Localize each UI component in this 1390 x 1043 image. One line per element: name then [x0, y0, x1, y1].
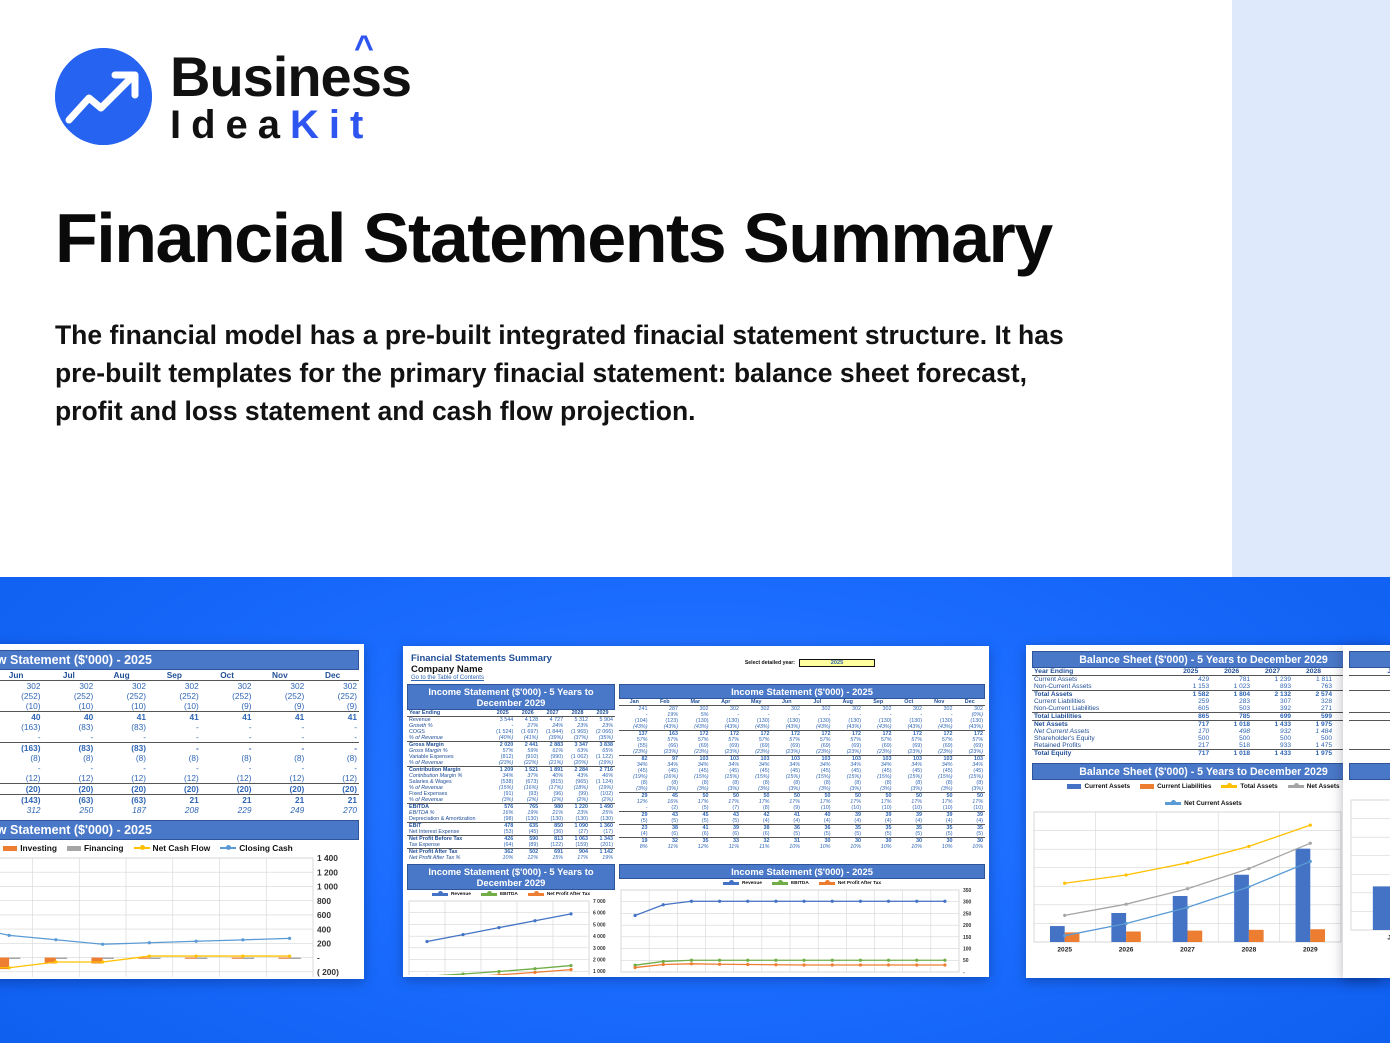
- table-cell: (252): [0, 691, 43, 701]
- income-monthly-table-title: Income Statement ($'000) - 2025: [619, 684, 985, 699]
- table-cell: 763: [1293, 683, 1334, 691]
- table-cell: 21: [148, 795, 201, 806]
- balance-sheet-table: Year Ending20252026202720282029Current A…: [1032, 668, 1375, 757]
- table-cell: 599: [1293, 713, 1334, 721]
- table-row: Total Assets1 5821 8042 1322 5743 146: [1032, 691, 1375, 699]
- table-row: Tax Expense(64)(89)(122)(159)(201): [407, 842, 615, 849]
- table-cell: (63): [43, 795, 96, 806]
- page-title: Financial Statements Summary: [55, 198, 1175, 278]
- table-cell: (20): [201, 784, 254, 795]
- table-cell: -: [0, 732, 43, 743]
- table-cell: 302: [148, 681, 201, 692]
- table-cell: 302: [43, 681, 96, 692]
- table-cell: 503: [1211, 705, 1252, 713]
- table-row: 302302302302302302302302: [0, 681, 359, 692]
- table-cell: (20): [43, 784, 96, 795]
- table-cell: 12: [1349, 742, 1390, 750]
- table-cell: 328: [1293, 698, 1334, 705]
- table-cell: 170: [1170, 728, 1211, 735]
- income-header-company: Company Name: [405, 664, 552, 675]
- brand-circumflex-icon: ^: [354, 31, 373, 65]
- svg-text:5 000: 5 000: [593, 922, 606, 928]
- table-cell: -: [201, 732, 254, 743]
- table-cell: 10%: [490, 855, 515, 861]
- table-cell: 1 811: [1293, 676, 1334, 684]
- table-cell: (10): [148, 701, 201, 712]
- table-cell: 932: [1252, 728, 1293, 735]
- table-cell: (8): [43, 753, 96, 763]
- income-monthly-chart-title: Income Statement ($'000) - 2025: [619, 864, 985, 879]
- table-cell: (12): [148, 773, 201, 784]
- svg-text:3 000: 3 000: [593, 946, 606, 952]
- sliver-table: Jan1 1741241 297936927865121 08150012512: [1349, 668, 1390, 757]
- table-row: 512: [1349, 750, 1390, 758]
- table-cell: 1 975: [1293, 750, 1334, 758]
- table-cell: 302: [95, 681, 148, 692]
- table-cell: 270: [306, 805, 359, 815]
- table-row: Shareholder's Equity500500500500500: [1032, 735, 1375, 742]
- table-row: 124: [1349, 683, 1390, 691]
- svg-text:800: 800: [317, 896, 331, 906]
- table-cell: 259: [1170, 698, 1211, 705]
- table-of-contents-link[interactable]: Go to the Table of Contents: [405, 675, 552, 681]
- header-cell: 2025: [1170, 668, 1211, 676]
- table-row: (249)(252)(252)(252)(252)(252)(252)(252): [0, 691, 359, 701]
- svg-text:1 200: 1 200: [317, 867, 338, 877]
- screenshot-balance-sheet-monthly[interactable]: Jan1 1741241 297936927865121 08150012512…: [1343, 645, 1390, 978]
- table-row: Depreciation & Amortization(98)(130)(130…: [407, 816, 615, 823]
- svg-text:50: 50: [963, 958, 969, 964]
- brand-name-secondary: Idea Kit: [170, 105, 411, 145]
- cash-flow-chart-legend: InvestingFinancingNet Cash FlowClosing C…: [0, 843, 359, 853]
- table-cell: 283: [1211, 698, 1252, 705]
- table-cell: 781: [1211, 676, 1252, 684]
- table-cell: 10%: [833, 844, 864, 850]
- table-cell: 429: [1170, 676, 1211, 684]
- table-cell: -: [254, 722, 307, 732]
- legend-label: Closing Cash: [239, 843, 293, 853]
- table-row: Net Profit After Tax %10%12%15%17%19%: [407, 855, 615, 861]
- table-cell: (20): [0, 784, 43, 795]
- legend-label: Net Assets: [1307, 783, 1340, 790]
- svg-text:2026: 2026: [1119, 947, 1134, 954]
- table-row: Retained Profits2175189331 4752 160: [1032, 742, 1375, 750]
- table-cell: 41: [95, 712, 148, 723]
- header-cell: Jan: [1349, 668, 1390, 676]
- table-row: 692: [1349, 705, 1390, 713]
- svg-text:100: 100: [963, 946, 972, 952]
- table-cell: 21: [306, 795, 359, 806]
- row-label: Current Assets: [1032, 676, 1170, 684]
- table-cell: 11%: [711, 844, 742, 850]
- table-cell: 392: [1252, 705, 1293, 713]
- table-cell: (252): [254, 691, 307, 701]
- header-cell: 2027: [1252, 668, 1293, 676]
- table-cell: 312: [0, 805, 43, 815]
- table-row: (10)(10)(10)(10)(10)(9)(9)(9): [0, 701, 359, 712]
- svg-text:1 400: 1 400: [317, 854, 338, 863]
- table-cell: (12): [95, 773, 148, 784]
- svg-text:7 000: 7 000: [593, 899, 606, 905]
- table-cell: 21: [254, 795, 307, 806]
- table-cell: (252): [43, 691, 96, 701]
- table-cell: 302: [201, 681, 254, 692]
- table-cell: -: [43, 763, 96, 773]
- sliver-table-title: [1349, 651, 1390, 668]
- table-row: 12: [1349, 742, 1390, 750]
- table-cell: 933: [1252, 742, 1293, 750]
- table-cell: 785: [1211, 713, 1252, 721]
- svg-text:Sep: Sep: [856, 976, 865, 977]
- row-label: Retained Profits: [1032, 742, 1170, 750]
- table-header-row: Jan: [1349, 668, 1390, 676]
- income-annual-chart: 7 0006 0005 0004 0003 0002 0001 000-2025…: [407, 897, 615, 977]
- header-cell: Dec: [306, 670, 359, 681]
- table-cell: 500: [1293, 735, 1334, 742]
- legend-item: Current Assets: [1067, 783, 1130, 790]
- table-cell: (12): [254, 773, 307, 784]
- table-cell: 19%: [590, 855, 615, 861]
- growth-arrow-icon: [55, 48, 152, 145]
- brand-name-primary-text: Business: [170, 45, 411, 108]
- svg-text:Apr: Apr: [715, 976, 724, 977]
- legend-label: Net Cash Flow: [153, 843, 211, 853]
- table-row: Total Liabilities865785699599485: [1032, 713, 1375, 721]
- table-row: Total Equity7171 0181 4331 9752 660: [1032, 750, 1375, 758]
- header-cell: Year Ending: [1032, 668, 1170, 676]
- table-row: Net Current Assets1704989321 4842 169: [1032, 728, 1375, 735]
- svg-text:1 000: 1 000: [593, 969, 606, 975]
- balance-sheet-chart-legend: Current AssetsCurrent LiabilitiesTotal A…: [1032, 783, 1375, 807]
- table-cell: 512: [1349, 721, 1390, 729]
- table-cell: (10): [95, 701, 148, 712]
- table-cell: (63): [95, 795, 148, 806]
- table-cell: 302: [254, 681, 307, 692]
- row-label: Total Equity: [1032, 750, 1170, 758]
- table-row: --------: [0, 763, 359, 773]
- table-row: Non-Current Assets1 1531 023893763633: [1032, 683, 1375, 691]
- table-cell: 41: [254, 712, 307, 723]
- table-cell: -: [95, 732, 148, 743]
- table-cell: 249: [254, 805, 307, 815]
- table-row: % of Revenue(23%)(22%)(21%)(20%)(19%): [407, 760, 615, 767]
- legend-item: Total Assets: [1221, 783, 1277, 790]
- svg-text:2027: 2027: [1180, 947, 1195, 954]
- table-cell: (83): [43, 722, 96, 732]
- table-cell: 10%: [802, 844, 833, 850]
- table-cell: 1 081: [1349, 728, 1390, 735]
- table-cell: -: [0, 763, 43, 773]
- svg-text:Jul: Jul: [800, 976, 808, 977]
- header-cell: Oct: [201, 670, 254, 681]
- table-cell: 1 804: [1211, 691, 1252, 699]
- table-cell: (8): [306, 753, 359, 763]
- table-cell: -: [306, 732, 359, 743]
- row-label: Non-Current Assets: [1032, 683, 1170, 691]
- table-cell: (252): [95, 691, 148, 701]
- svg-text:2029: 2029: [1303, 947, 1318, 954]
- table-cell: 271: [1293, 705, 1334, 713]
- table-cell: 518: [1211, 742, 1252, 750]
- balance-sheet-chart-title: Balance Sheet ($'000) - 5 Years to Decem…: [1032, 763, 1375, 780]
- table-row: (163)(163)(83)(83)----: [0, 722, 359, 732]
- table-cell: 699: [1252, 713, 1293, 721]
- row-label: Net Assets: [1032, 721, 1170, 729]
- svg-text:Mar: Mar: [687, 976, 696, 977]
- table-cell: (9): [254, 701, 307, 712]
- table-cell: (12): [43, 773, 96, 784]
- income-annual-chart-title: Income Statement ($'000) - 5 Years to De…: [407, 864, 615, 890]
- table-cell: (83): [95, 722, 148, 732]
- svg-text:Feb: Feb: [659, 976, 668, 977]
- svg-text:Aug: Aug: [827, 976, 837, 977]
- table-cell: 500: [1170, 735, 1211, 742]
- balance-sheet-chart: 3 5003 0002 5002 0001 5001 000500-202520…: [1032, 808, 1375, 958]
- table-cell: 10%: [772, 844, 803, 850]
- header-cell: Jun: [0, 670, 43, 681]
- table-cell: -: [43, 732, 96, 743]
- table-cell: 17%: [565, 855, 590, 861]
- table-cell: 12%: [680, 844, 711, 850]
- cash-flow-table: MayJunJulAugSepOctNovDec3023023023023023…: [0, 670, 359, 815]
- table-cell: (12): [306, 773, 359, 784]
- table-header-row: MayJunJulAugSepOctNovDec: [0, 670, 359, 681]
- table-row: Current Assets4297811 2391 8112 513: [1032, 676, 1375, 684]
- table-row: % of Revenue(3%)(2%)(2%)(2%)(2%): [407, 797, 615, 804]
- table-cell: -: [201, 763, 254, 773]
- svg-text:400: 400: [317, 924, 331, 934]
- income-annual-table: Year Ending20252026202720282029Revenue3 …: [407, 710, 615, 861]
- income-header-title: Financial Statements Summary: [405, 653, 552, 664]
- sliver-chart-title: [1349, 763, 1390, 780]
- legend-item: Financing: [67, 843, 124, 853]
- table-cell: 12%: [515, 855, 540, 861]
- row-label: Net Profit After Tax %: [407, 855, 490, 861]
- legend-label: Current Assets: [1084, 783, 1130, 790]
- table-cell: -: [95, 763, 148, 773]
- legend-label: Financing: [84, 843, 124, 853]
- table-row: 4340404141414141: [0, 712, 359, 723]
- svg-text:-: -: [317, 953, 320, 963]
- screenshot-balance-sheet[interactable]: Balance Sheet ($'000) - 5 Years to Decem…: [1026, 645, 1381, 978]
- table-cell: (8): [201, 753, 254, 763]
- table-cell: (83): [95, 743, 148, 754]
- header-cell: Aug: [95, 670, 148, 681]
- table-cell: 40: [43, 712, 96, 723]
- cash-flow-chart-title: Cash Flow Statement ($'000) - 2025: [0, 820, 359, 840]
- table-cell: -: [254, 763, 307, 773]
- table-cell: (20): [254, 784, 307, 795]
- header-cell: 2026: [1211, 668, 1252, 676]
- table-cell: 1 239: [1252, 676, 1293, 684]
- table-row: (141)(143)(63)(63)21212121: [0, 795, 359, 806]
- svg-text:350: 350: [963, 888, 972, 894]
- table-cell: 187: [95, 805, 148, 815]
- table-cell: 717: [1170, 721, 1211, 729]
- table-cell: 2 574: [1293, 691, 1334, 699]
- brand-logo: Business ^ Idea Kit: [55, 48, 411, 145]
- table-cell: 1 582: [1170, 691, 1211, 699]
- table-cell: (143): [0, 795, 43, 806]
- table-cell: (8): [95, 753, 148, 763]
- legend-item: Net Assets: [1288, 783, 1340, 790]
- table-cell: 1 433: [1252, 750, 1293, 758]
- table-cell: -: [306, 722, 359, 732]
- table-cell: 865: [1170, 713, 1211, 721]
- table-cell: 500: [1211, 735, 1252, 742]
- header-cell: 2028: [1293, 668, 1334, 676]
- table-cell: 250: [43, 805, 96, 815]
- cash-flow-chart: 1 4001 2001 000800600400200-( 200)( 400)…: [0, 854, 359, 979]
- table-cell: (9): [306, 701, 359, 712]
- legend-item: Closing Cash: [220, 843, 293, 853]
- table-row: Non-Current Liabilities605503392271141: [1032, 705, 1375, 713]
- row-label: Non-Current Liabilities: [1032, 705, 1170, 713]
- row-label: Total Liabilities: [1032, 713, 1170, 721]
- table-cell: (252): [306, 691, 359, 701]
- table-cell: (20): [95, 784, 148, 795]
- right-accent-panel: [1232, 0, 1390, 577]
- table-cell: 11%: [741, 844, 772, 850]
- table-row: --------: [0, 732, 359, 743]
- legend-item: Current Liabilities: [1140, 783, 1211, 790]
- table-row: (163)(163)(83)(83)----: [0, 743, 359, 754]
- table-cell: (252): [148, 691, 201, 701]
- table-cell: -: [254, 743, 307, 754]
- table-row: % of Revenue(40%)(41%)(39%)(37%)(35%): [407, 735, 615, 742]
- table-cell: -: [201, 722, 254, 732]
- table-cell: (8): [254, 753, 307, 763]
- table-cell: 21: [201, 795, 254, 806]
- table-cell: 893: [1252, 683, 1293, 691]
- table-cell: 1 975: [1293, 721, 1334, 729]
- table-row: (8)(8)(8)(8)(8)(8)(8)(8): [0, 753, 359, 763]
- table-cell: 41: [306, 712, 359, 723]
- table-cell: 229: [201, 805, 254, 815]
- brand-name-kit: Kit: [290, 105, 373, 145]
- table-row: Net Assets7171 0181 4331 9752 660: [1032, 721, 1375, 729]
- income-annual-table-title: Income Statement ($'000) - 5 Years to De…: [407, 684, 615, 710]
- select-year-label: Select detailed year:: [745, 660, 795, 666]
- sliver-chart: Jan: [1349, 796, 1390, 946]
- table-row: (13)(12)(12)(12)(12)(12)(12)(12): [0, 773, 359, 784]
- income-monthly-table: JanFebMarAprMayJunJulAugSepOctNovDec2412…: [619, 699, 985, 850]
- table-cell: 1 018: [1211, 721, 1252, 729]
- table-cell: 10%: [894, 844, 925, 850]
- svg-text:Jan: Jan: [631, 976, 640, 977]
- table-cell: (8): [148, 753, 201, 763]
- row-label: Total Assets: [1032, 691, 1170, 699]
- table-cell: 1 153: [1170, 683, 1211, 691]
- select-year-input[interactable]: 2025: [799, 659, 875, 667]
- table-cell: (163): [0, 722, 43, 732]
- table-cell: (8): [0, 753, 43, 763]
- table-cell: 1 018: [1211, 750, 1252, 758]
- table-cell: (252): [201, 691, 254, 701]
- legend-item: Investing: [3, 843, 57, 853]
- table-cell: -: [306, 763, 359, 773]
- table-cell: (12): [0, 773, 43, 784]
- header-cell: Jul: [43, 670, 96, 681]
- brand-name-primary: Business ^: [170, 49, 411, 105]
- table-row: 512: [1349, 721, 1390, 729]
- table-cell: 1 174: [1349, 676, 1390, 684]
- table-row: Current Liabilities259283307328344: [1032, 698, 1375, 705]
- table-cell: 498: [1211, 728, 1252, 735]
- svg-text:Nov: Nov: [912, 976, 922, 977]
- screenshot-cash-flow[interactable]: Cash Flow Statement ($'000) - 2025 MayJu…: [0, 644, 364, 979]
- table-cell: (83): [43, 743, 96, 754]
- table-cell: 1 297: [1349, 691, 1390, 699]
- table-cell: (20): [306, 784, 359, 795]
- table-cell: 10%: [863, 844, 894, 850]
- table-cell: 93: [1349, 698, 1390, 705]
- table-row: 1 174: [1349, 676, 1390, 684]
- legend-label: Current Liabilities: [1157, 783, 1211, 790]
- svg-text:( 200): ( 200): [317, 967, 339, 977]
- svg-text:Jun: Jun: [771, 976, 780, 977]
- balance-sheet-table-title: Balance Sheet ($'000) - 5 Years to Decem…: [1032, 651, 1375, 668]
- svg-text:1 000: 1 000: [317, 882, 338, 892]
- table-cell: 208: [148, 805, 201, 815]
- svg-text:Oct: Oct: [884, 976, 893, 977]
- svg-text:300: 300: [963, 900, 972, 906]
- svg-text:200: 200: [963, 923, 972, 929]
- cash-flow-table-title: Cash Flow Statement ($'000) - 2025: [0, 650, 359, 670]
- table-cell: 1 433: [1252, 721, 1293, 729]
- table-cell: 1 484: [1293, 728, 1334, 735]
- legend-label: Total Assets: [1240, 783, 1277, 790]
- table-cell: 1 023: [1211, 683, 1252, 691]
- header-cell: Nov: [254, 670, 307, 681]
- table-cell: -: [148, 732, 201, 743]
- table-row: 1 081: [1349, 728, 1390, 735]
- table-cell: 2 132: [1252, 691, 1293, 699]
- table-cell: -: [148, 743, 201, 754]
- table-cell: 1 475: [1293, 742, 1334, 750]
- svg-text:May: May: [743, 976, 753, 977]
- table-cell: (10): [0, 701, 43, 712]
- svg-text:150: 150: [963, 935, 972, 941]
- brand-name-idea: Idea: [170, 105, 290, 145]
- page-description: The financial model has a pre-built inte…: [55, 316, 1095, 430]
- table-cell: -: [148, 763, 201, 773]
- legend-item: Net Current Assets: [1165, 800, 1242, 807]
- table-cell: 717: [1170, 750, 1211, 758]
- table-cell: -: [148, 722, 201, 732]
- table-cell: 124: [1349, 683, 1390, 691]
- svg-text:-: -: [963, 970, 965, 976]
- table-cell: 40: [0, 712, 43, 723]
- svg-text:2 000: 2 000: [593, 957, 606, 963]
- table-row: 1 297: [1349, 691, 1390, 699]
- table-cell: 217: [1170, 742, 1211, 750]
- table-cell: 500: [1349, 735, 1390, 742]
- legend-label: Net Current Assets: [1184, 800, 1242, 807]
- table-cell: 786: [1349, 713, 1390, 721]
- table-cell: 11%: [650, 844, 681, 850]
- legend-label: Investing: [20, 843, 57, 853]
- table-header-row: Year Ending20252026202720282029: [1032, 668, 1375, 676]
- svg-text:Dec: Dec: [940, 976, 949, 977]
- svg-text:2025: 2025: [1057, 947, 1072, 954]
- table-row: Net Interest Expense(53)(45)(36)(27)(17): [407, 829, 615, 836]
- table-cell: 8%: [619, 844, 650, 850]
- table-row: 500: [1349, 735, 1390, 742]
- svg-text:6 000: 6 000: [593, 911, 606, 917]
- screenshot-income-statement[interactable]: Financial Statements Summary Company Nam…: [403, 646, 989, 977]
- table-row: 8%11%12%11%11%10%10%10%10%10%10%10%: [619, 844, 985, 850]
